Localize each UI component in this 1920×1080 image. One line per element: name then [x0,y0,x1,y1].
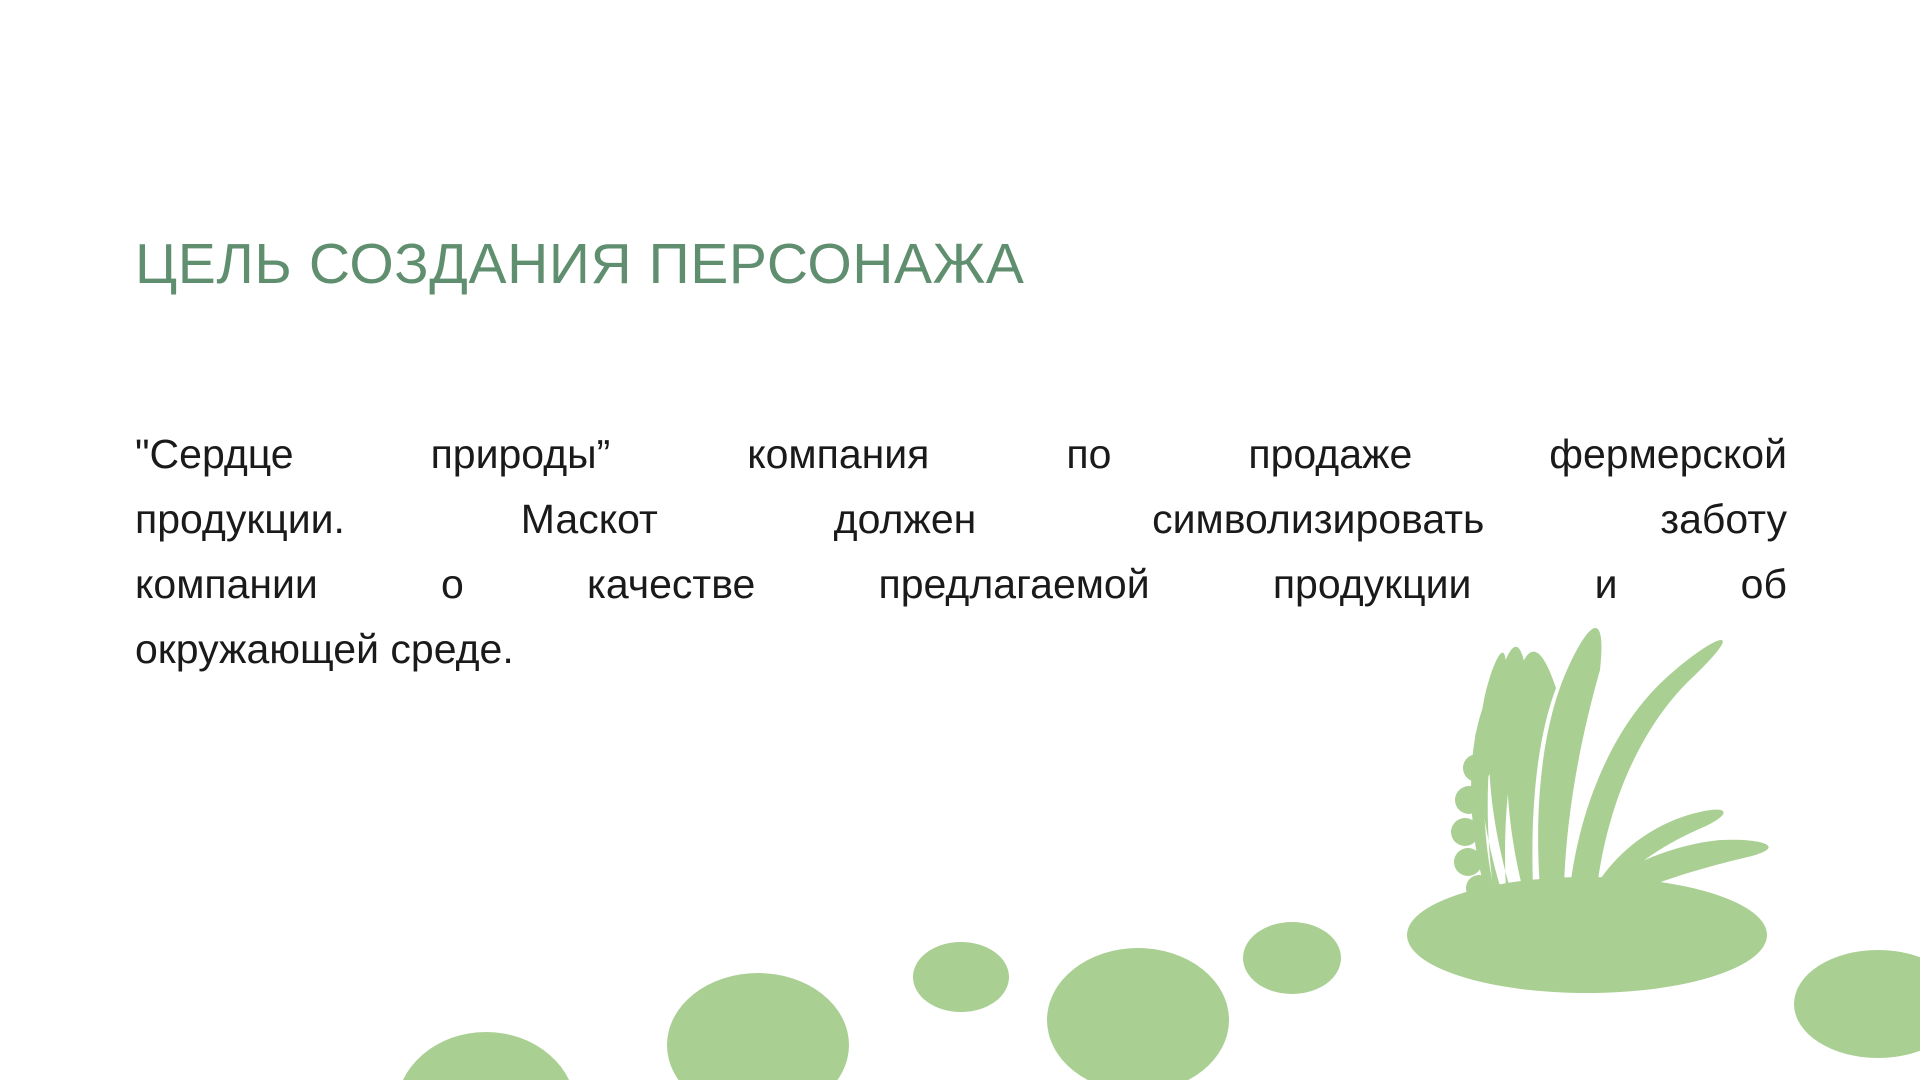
body-line: окружающей среде. [135,617,1787,682]
slide-content: ЦЕЛЬ СОЗДАНИЯ ПЕРСОНАЖА "Сердцеприроды”к… [135,0,1785,1080]
body-word: природы” [431,422,611,487]
body-word: предлагаемой [879,552,1150,617]
body-word: символизировать [1152,487,1484,552]
pebble-ellipse [1794,950,1920,1058]
body-word: заботу [1660,487,1787,552]
body-line: продукции.Маскотдолженсимволизироватьзаб… [135,487,1787,552]
body-word: продукции. [135,487,345,552]
body-word: компания [747,422,929,487]
presentation-slide: ЦЕЛЬ СОЗДАНИЯ ПЕРСОНАЖА "Сердцеприроды”к… [0,0,1920,1080]
body-word: продукции [1273,552,1472,617]
body-paragraph: "Сердцеприроды”компанияпопродажефермерск… [135,422,1787,682]
body-word: продаже [1248,422,1412,487]
body-word: "Сердце [135,422,294,487]
page-title: ЦЕЛЬ СОЗДАНИЯ ПЕРСОНАЖА [135,234,1785,296]
body-word: качестве [587,552,755,617]
body-word: должен [834,487,977,552]
body-line: "Сердцеприроды”компанияпопродажефермерск… [135,422,1787,487]
body-line: компанииокачествепредлагаемойпродукцииио… [135,552,1787,617]
body-word: о [441,552,464,617]
body-word: и [1595,552,1618,617]
body-word: фермерской [1549,422,1787,487]
body-word: об [1741,552,1787,617]
body-word: компании [135,552,318,617]
body-word: Маскот [521,487,658,552]
body-word: по [1066,422,1111,487]
